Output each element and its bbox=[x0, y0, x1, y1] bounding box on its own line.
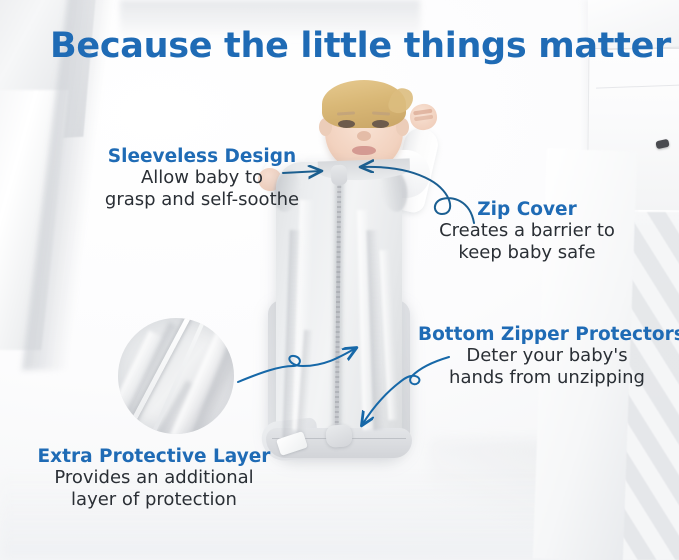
callout-line: layer of protection bbox=[18, 489, 290, 511]
callout-line: grasp and self-soothe bbox=[92, 189, 312, 211]
callout-bottom-zipper-protectors: Bottom Zipper Protectors Deter your baby… bbox=[418, 324, 676, 388]
bottom-zipper-protector bbox=[325, 424, 352, 448]
callout-line: Creates a barrier to bbox=[418, 220, 636, 242]
callout-sleeveless-design: Sleeveless Design Allow baby to grasp an… bbox=[92, 146, 312, 210]
callout-line: keep baby safe bbox=[418, 242, 636, 264]
page-title: Because the little things matter bbox=[50, 26, 671, 66]
fabric-closeup-circle bbox=[118, 318, 234, 434]
zip-cover-flap bbox=[330, 165, 347, 186]
callout-title: Extra Protective Layer bbox=[18, 446, 290, 467]
callout-line: Provides an additional bbox=[18, 467, 290, 489]
baby-eye-left bbox=[338, 120, 355, 128]
callout-line: hands from unzipping bbox=[418, 367, 676, 389]
callout-title: Zip Cover bbox=[418, 199, 636, 220]
callout-line: Allow baby to bbox=[92, 167, 312, 189]
promo-infographic: Because the little things matter Sleevel… bbox=[0, 0, 679, 560]
baby-nose bbox=[357, 131, 371, 141]
callout-line: Deter your baby's bbox=[418, 345, 676, 367]
baby-mouth bbox=[352, 146, 376, 155]
baby-eye-right bbox=[372, 120, 389, 128]
callout-zip-cover: Zip Cover Creates a barrier to keep baby… bbox=[418, 199, 636, 263]
baby-right-hand bbox=[408, 102, 438, 132]
callout-extra-protective-layer: Extra Protective Layer Provides an addit… bbox=[18, 446, 290, 510]
callout-title: Bottom Zipper Protectors bbox=[418, 324, 676, 345]
callout-title: Sleeveless Design bbox=[92, 146, 312, 167]
